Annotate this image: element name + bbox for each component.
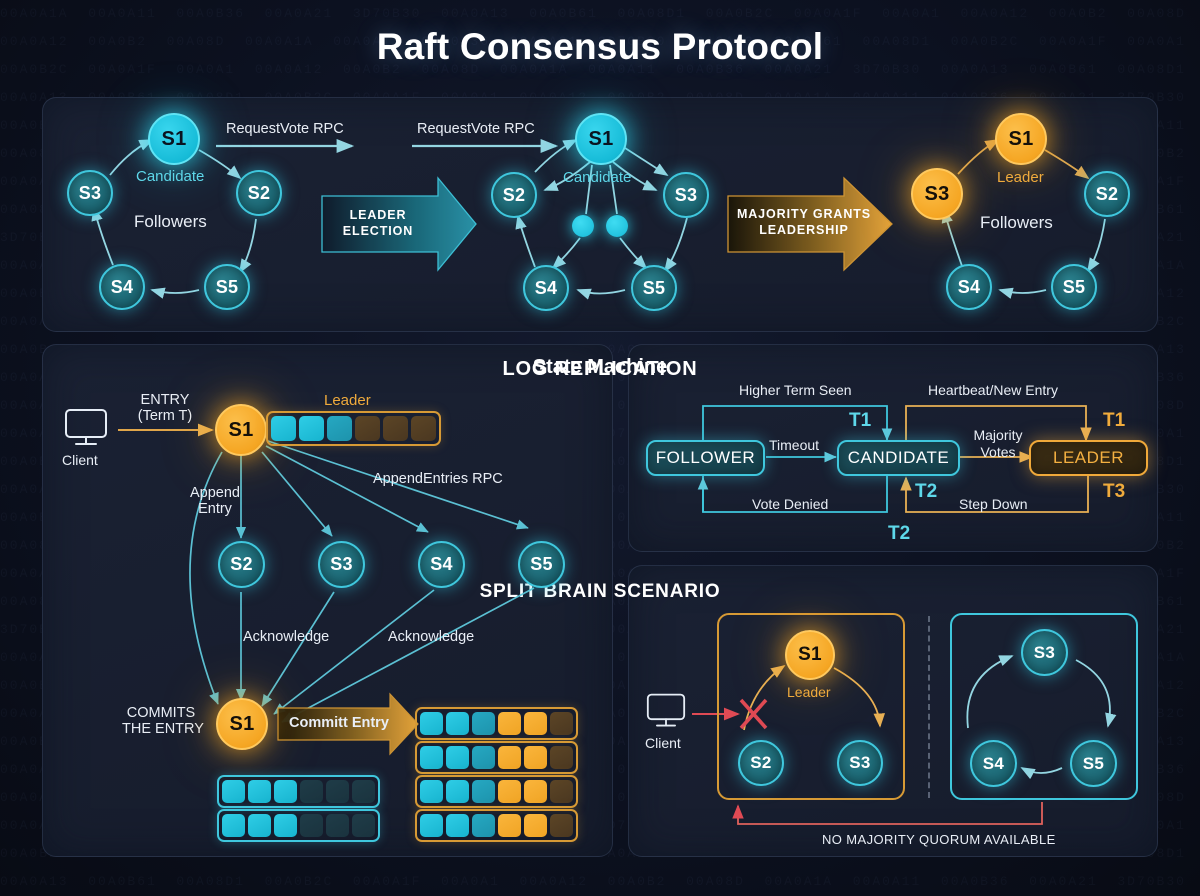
node-label: S5 xyxy=(1063,277,1086,298)
log-cell xyxy=(274,814,297,837)
majority-votes-line1: Majority xyxy=(963,427,1033,444)
election2-s4-node[interactable]: S4 xyxy=(523,265,569,311)
split-s2-node[interactable]: S2 xyxy=(738,740,784,786)
monitor-glyph xyxy=(64,408,108,448)
vote-dot-1 xyxy=(572,215,594,237)
election3-s4-node[interactable]: S4 xyxy=(946,264,992,310)
log-cell xyxy=(248,780,271,803)
log-cell xyxy=(420,712,443,735)
log-cell xyxy=(420,746,443,769)
state-machine-title: State Machine xyxy=(0,356,1200,379)
stage1-requestvote-label: RequestVote RPC xyxy=(226,121,344,137)
node-label: S1 xyxy=(798,644,822,666)
split-s3-minority-node[interactable]: S3 xyxy=(837,740,883,786)
split-s5-node[interactable]: S5 xyxy=(1070,740,1117,787)
term-badge-t1-gold: T1 xyxy=(1103,410,1125,432)
split-s3-majority-node[interactable]: S3 xyxy=(1021,629,1068,676)
log-s5-node[interactable]: S5 xyxy=(518,541,565,588)
page-title: Raft Consensus Protocol xyxy=(0,26,1200,68)
no-quorum-label: NO MAJORITY QUORUM AVAILABLE xyxy=(822,832,1056,847)
node-label: S3 xyxy=(79,183,102,204)
node-label: S4 xyxy=(983,754,1004,774)
vote-dot-2 xyxy=(606,215,628,237)
stage1-followers-label: Followers xyxy=(134,212,207,232)
log-cell xyxy=(524,814,547,837)
stage3-leader-label: Leader xyxy=(997,169,1044,186)
split-leader-label: Leader xyxy=(787,684,831,700)
election2-s3-node[interactable]: S3 xyxy=(663,172,709,218)
election-s1-node[interactable]: S1 xyxy=(148,113,200,165)
log-s4-node[interactable]: S4 xyxy=(418,541,465,588)
log-cell xyxy=(446,814,469,837)
node-label: S1 xyxy=(228,419,253,442)
append-line2: Entry xyxy=(184,501,246,517)
arrow-line-1: MAJORITY GRANTS xyxy=(734,206,874,222)
split-client-label: Client xyxy=(645,735,681,751)
diagram-canvas: 00A0A1A 00A0A11 00A0B36 00A0A21 3D70B30 … xyxy=(0,0,1200,896)
leader-log-label: Leader xyxy=(324,392,371,409)
append-entry-label: Append Entry xyxy=(184,485,246,517)
log-cell xyxy=(327,416,352,441)
log-cell xyxy=(352,780,375,803)
log-commit-s1-node[interactable]: S1 xyxy=(216,698,268,750)
log-cell xyxy=(550,780,573,803)
entry-term-label: ENTRY (Term T) xyxy=(128,392,202,424)
log-cell xyxy=(446,746,469,769)
log-cell xyxy=(446,780,469,803)
stage2-candidate-label: Candidate xyxy=(563,169,631,186)
commit-entry-arrow-label: Committ Entry xyxy=(289,715,389,731)
entry-label-line2: (Term T) xyxy=(128,408,202,424)
acknowledge-label-2: Acknowledge xyxy=(388,629,474,645)
stage3-followers-label: Followers xyxy=(980,213,1053,233)
node-label: S2 xyxy=(230,554,253,575)
election3-s5-node[interactable]: S5 xyxy=(1051,264,1097,310)
log-cell xyxy=(498,780,521,803)
state-leader-box[interactable]: LEADER xyxy=(1029,440,1148,476)
term-badge-t3: T3 xyxy=(1103,481,1125,503)
state-label: LEADER xyxy=(1053,448,1124,468)
log-cell xyxy=(498,814,521,837)
split-brain-title: SPLIT BRAIN SCENARIO xyxy=(0,581,1200,603)
log-cell xyxy=(222,780,245,803)
node-label: S3 xyxy=(849,753,870,773)
log-cell xyxy=(420,814,443,837)
node-label: S3 xyxy=(675,185,698,206)
term-badge-t2-lower: T2 xyxy=(888,523,910,545)
node-label: S5 xyxy=(530,554,553,575)
log-cell xyxy=(222,814,245,837)
election2-s1-node[interactable]: S1 xyxy=(575,113,627,165)
client-monitor-icon xyxy=(64,408,108,453)
acknowledge-label-1: Acknowledge xyxy=(243,629,329,645)
log-cell xyxy=(274,780,297,803)
partition-divider xyxy=(928,616,930,798)
state-label: CANDIDATE xyxy=(848,448,949,468)
higher-term-seen-label: Higher Term Seen xyxy=(739,382,852,398)
node-label: S4 xyxy=(111,277,134,298)
node-label: S4 xyxy=(430,554,453,575)
append-entries-rpc-label: AppendEntries RPC xyxy=(373,471,503,487)
heartbeat-new-entry-label: Heartbeat/New Entry xyxy=(928,382,1058,398)
node-label: S5 xyxy=(216,277,239,298)
leader-log-bar xyxy=(266,411,441,446)
log-cell xyxy=(355,416,380,441)
pre-commit-log-bar xyxy=(217,775,380,808)
post-commit-log-bar xyxy=(415,741,578,774)
log-client-label: Client xyxy=(62,452,98,468)
majority-grants-arrow: MAJORITY GRANTS LEADERSHIP xyxy=(734,206,874,238)
post-commit-log-bar xyxy=(415,809,578,842)
commits-line2: THE ENTRY xyxy=(122,721,200,737)
log-s2-node[interactable]: S2 xyxy=(218,541,265,588)
election-s4-node[interactable]: S4 xyxy=(99,264,145,310)
log-cell xyxy=(524,746,547,769)
log-cell xyxy=(550,712,573,735)
pre-commit-log-bar xyxy=(217,809,380,842)
leader-election-arrow: LEADER ELECTION xyxy=(330,207,426,239)
election-s2-node[interactable]: S2 xyxy=(236,170,282,216)
monitor-glyph xyxy=(646,692,686,730)
log-cell xyxy=(300,814,323,837)
state-candidate-box[interactable]: CANDIDATE xyxy=(837,440,960,476)
timeout-label: Timeout xyxy=(769,437,819,453)
node-label: S2 xyxy=(503,185,526,206)
election-s5-node[interactable]: S5 xyxy=(204,264,250,310)
arrow-line-2: ELECTION xyxy=(330,223,426,239)
state-follower-box[interactable]: FOLLOWER xyxy=(646,440,765,476)
split-s1-leader-node[interactable]: S1 xyxy=(785,630,835,680)
step-down-label: Step Down xyxy=(959,496,1027,512)
log-cell xyxy=(420,780,443,803)
log-cell xyxy=(472,712,495,735)
majority-votes-label: Majority Votes xyxy=(963,427,1033,461)
post-commit-log-bar xyxy=(415,775,578,808)
log-cell xyxy=(472,746,495,769)
log-cell xyxy=(352,814,375,837)
node-label: S4 xyxy=(535,278,558,299)
split-client-monitor-icon xyxy=(646,692,686,735)
node-label: S5 xyxy=(1083,754,1104,774)
state-label: FOLLOWER xyxy=(656,448,755,468)
log-cell xyxy=(299,416,324,441)
commits-the-entry-label: COMMITS THE ENTRY xyxy=(122,705,200,737)
node-label: S2 xyxy=(248,183,271,204)
log-cell xyxy=(498,712,521,735)
commits-line1: COMMITS xyxy=(122,705,200,721)
node-label: S4 xyxy=(958,277,981,298)
log-cell xyxy=(550,746,573,769)
log-cell xyxy=(326,780,349,803)
log-cell xyxy=(472,814,495,837)
log-cell xyxy=(524,712,547,735)
log-cell xyxy=(472,780,495,803)
node-label: S1 xyxy=(1008,128,1033,151)
log-cell xyxy=(498,746,521,769)
vote-denied-label: Vote Denied xyxy=(752,496,828,512)
node-label: S2 xyxy=(750,753,771,773)
node-label: S1 xyxy=(161,128,186,151)
log-cell xyxy=(524,780,547,803)
log-cell xyxy=(271,416,296,441)
arrow-line-2: LEADERSHIP xyxy=(734,222,874,238)
election3-s1-node[interactable]: S1 xyxy=(995,113,1047,165)
log-cell xyxy=(383,416,408,441)
election3-s3-node[interactable]: S3 xyxy=(911,168,963,220)
log-leader-s1-node[interactable]: S1 xyxy=(215,404,267,456)
log-cell xyxy=(300,780,323,803)
election2-s2-node[interactable]: S2 xyxy=(491,172,537,218)
term-badge-t2-upper: T2 xyxy=(915,481,937,503)
log-cell xyxy=(411,416,436,441)
majority-votes-line2: Votes xyxy=(963,444,1033,461)
log-cell xyxy=(446,712,469,735)
node-label: S5 xyxy=(643,278,666,299)
log-cell xyxy=(326,814,349,837)
log-s3-node[interactable]: S3 xyxy=(318,541,365,588)
node-label: S2 xyxy=(1096,184,1119,205)
log-cell xyxy=(248,814,271,837)
node-label: S1 xyxy=(588,128,613,151)
split-s4-node[interactable]: S4 xyxy=(970,740,1017,787)
stage1-candidate-label: Candidate xyxy=(136,168,204,185)
election-s3-node[interactable]: S3 xyxy=(67,170,113,216)
node-label: S1 xyxy=(229,713,254,736)
election3-s2-node[interactable]: S2 xyxy=(1084,171,1130,217)
election2-s5-node[interactable]: S5 xyxy=(631,265,677,311)
term-badge-t1-cyan: T1 xyxy=(849,410,871,432)
node-label: S3 xyxy=(1034,643,1055,663)
post-commit-log-bar xyxy=(415,707,578,740)
entry-label-line1: ENTRY xyxy=(128,392,202,408)
log-cell xyxy=(550,814,573,837)
arrow-line-1: LEADER xyxy=(330,207,426,223)
append-line1: Append xyxy=(184,485,246,501)
stage2-requestvote-label: RequestVote RPC xyxy=(417,121,535,137)
node-label: S3 xyxy=(924,183,949,206)
node-label: S3 xyxy=(330,554,353,575)
